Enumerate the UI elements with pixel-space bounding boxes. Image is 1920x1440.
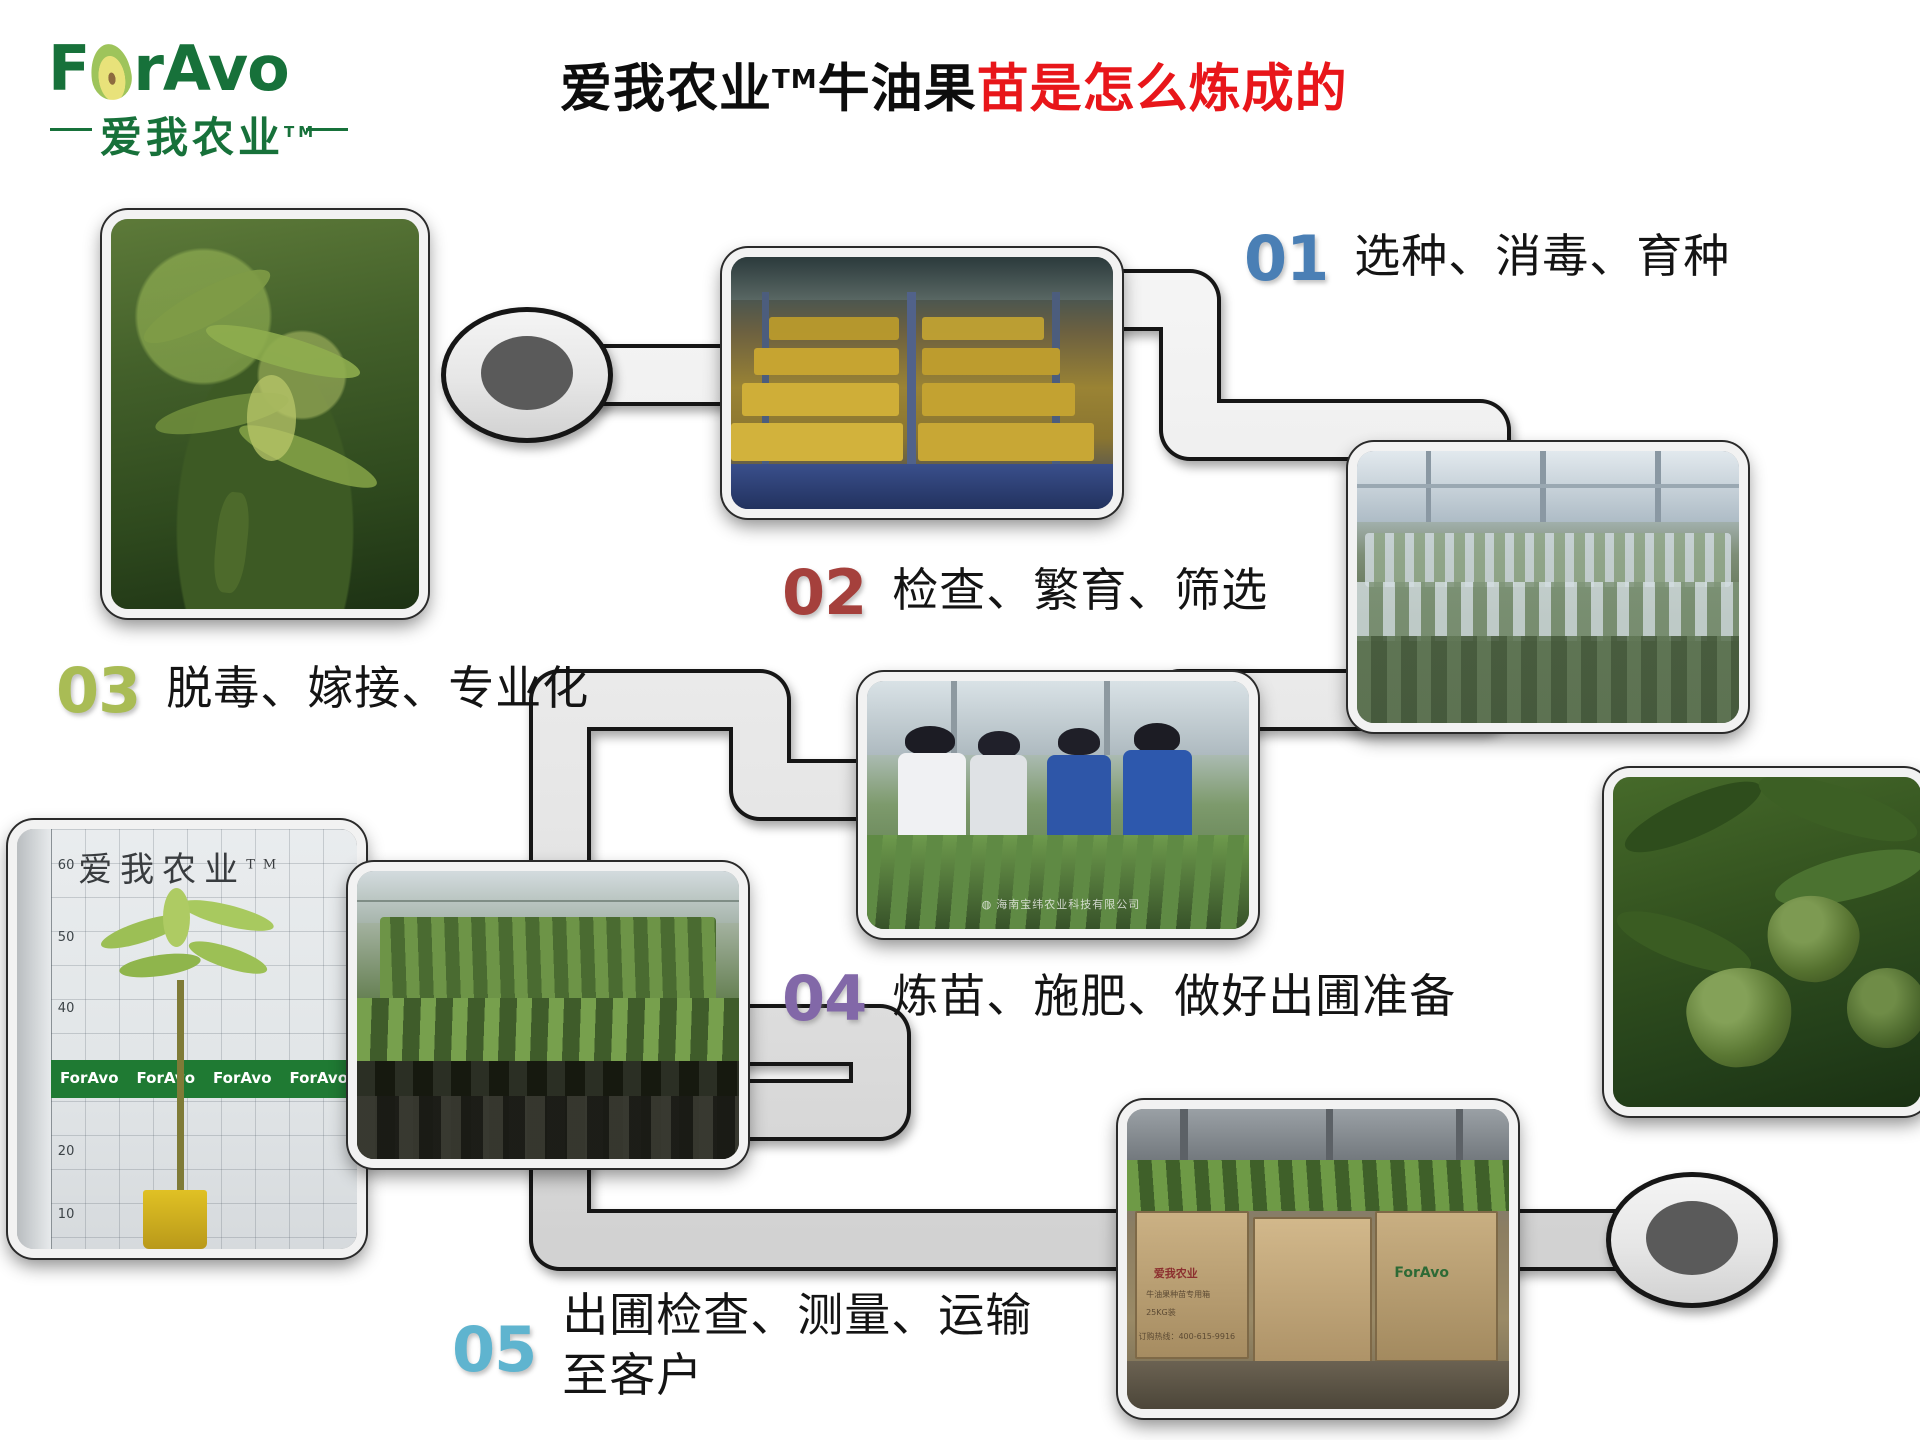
photo-avocado-fruit-on-tree[interactable]: [1604, 768, 1920, 1116]
brand-logo[interactable]: FrAvo 爱我农业TM: [48, 32, 348, 162]
step-05: 05 出圃检查、测量、运输 至客户: [452, 1285, 1032, 1405]
step-02: 02 检查、繁育、筛选: [782, 562, 1268, 624]
photo-inner: [1357, 451, 1739, 723]
seedling-pot: [143, 1190, 208, 1249]
step-04: 04 炼苗、施肥、做好出圃准备: [782, 968, 1456, 1030]
photo-watermark: ◍ 海南宝纬农业科技有限公司: [982, 896, 1141, 912]
title-tm-mark: TM: [772, 65, 818, 95]
photo-inner: [357, 871, 739, 1159]
step-05-number: 05: [452, 1319, 536, 1381]
photo-potted-seedling-rows[interactable]: [348, 862, 748, 1168]
carton-brand-text: 爱我农业: [1154, 1265, 1198, 1281]
photo-inner: [111, 219, 419, 609]
photo-avocado-flowering-branch[interactable]: [102, 210, 428, 618]
logo-wordmark: FrAvo: [48, 32, 348, 106]
photo-inner: ◍ 海南宝纬农业科技有限公司: [867, 681, 1249, 929]
logo-rule-right: [306, 128, 348, 131]
carton-line4: 订购热线：400-615-9916: [1138, 1331, 1235, 1342]
photo-greenhouse-grafted-seedlings[interactable]: [1348, 442, 1748, 732]
title-red: 苗是怎么炼成的: [977, 59, 1348, 119]
photo-inner: 60 50 40 30 20 10 爱我农业TM ForAvoForAvoFor…: [17, 829, 357, 1249]
step-04-number: 04: [782, 968, 866, 1030]
step-03: 03 脱毒、嫁接、专业化: [56, 660, 589, 722]
step-02-text: 检查、繁育、筛选: [892, 562, 1268, 618]
photo-packed-cartons-shipping[interactable]: 爱我农业 牛油果种苗专用箱 25KG装 订购热线：400-615-9916 Fo…: [1118, 1100, 1518, 1418]
photo-seed-germination-trays[interactable]: [722, 248, 1122, 518]
avocado-fruit: [1682, 963, 1796, 1072]
step-01-text: 选种、消毒、育种: [1354, 228, 1730, 284]
step-01-number: 01: [1244, 228, 1328, 290]
logo-chinese-name: 爱我农业TM: [100, 104, 317, 165]
step-02-number: 02: [782, 562, 866, 624]
logo-tm-mark: TM: [284, 123, 317, 141]
logo-rule-left: [50, 128, 92, 131]
carton-line3: 25KG装: [1146, 1307, 1176, 1318]
logo-wordmark-before: F: [48, 32, 89, 105]
step-01: 01 选种、消毒、育种: [1244, 228, 1730, 290]
step-03-number: 03: [56, 660, 140, 722]
photo-inner: [1613, 777, 1920, 1107]
ruler-strip: [17, 829, 52, 1249]
carton: [1253, 1217, 1372, 1371]
start-connector-dot: [441, 307, 613, 443]
carton: [1375, 1211, 1497, 1362]
carton-line2: 牛油果种苗专用箱: [1146, 1289, 1210, 1300]
photo-ruler-measured-seedling[interactable]: 60 50 40 30 20 10 爱我农业TM ForAvoForAvoFor…: [8, 820, 366, 1258]
step-03-text: 脱毒、嫁接、专业化: [166, 660, 589, 716]
photo-overlay-band: ForAvoForAvoForAvoForAvo: [51, 1060, 357, 1098]
avocado-fruit: [1761, 890, 1864, 988]
page-title: 爱我农业TM牛油果苗是怎么炼成的: [560, 48, 1348, 121]
photo-inner: [731, 257, 1113, 509]
logo-wordmark-after: rAvo: [133, 32, 288, 105]
end-connector-dot: [1606, 1172, 1778, 1308]
photo-inner: 爱我农业 牛油果种苗专用箱 25KG装 订购热线：400-615-9916 Fo…: [1127, 1109, 1509, 1409]
title-black-1: 爱我农业: [560, 59, 772, 119]
avocado-icon: [89, 42, 133, 100]
photo-overlay-brand: 爱我农业TM: [78, 842, 284, 891]
step-05-text: 出圃检查、测量、运输 至客户: [562, 1285, 1032, 1405]
title-black-2: 牛油果: [818, 59, 977, 119]
step-04-text: 炼苗、施肥、做好出圃准备: [892, 968, 1456, 1024]
carton-side-brand: ForAvo: [1394, 1265, 1449, 1281]
photo-technicians-inspecting-plants[interactable]: ◍ 海南宝纬农业科技有限公司: [858, 672, 1258, 938]
